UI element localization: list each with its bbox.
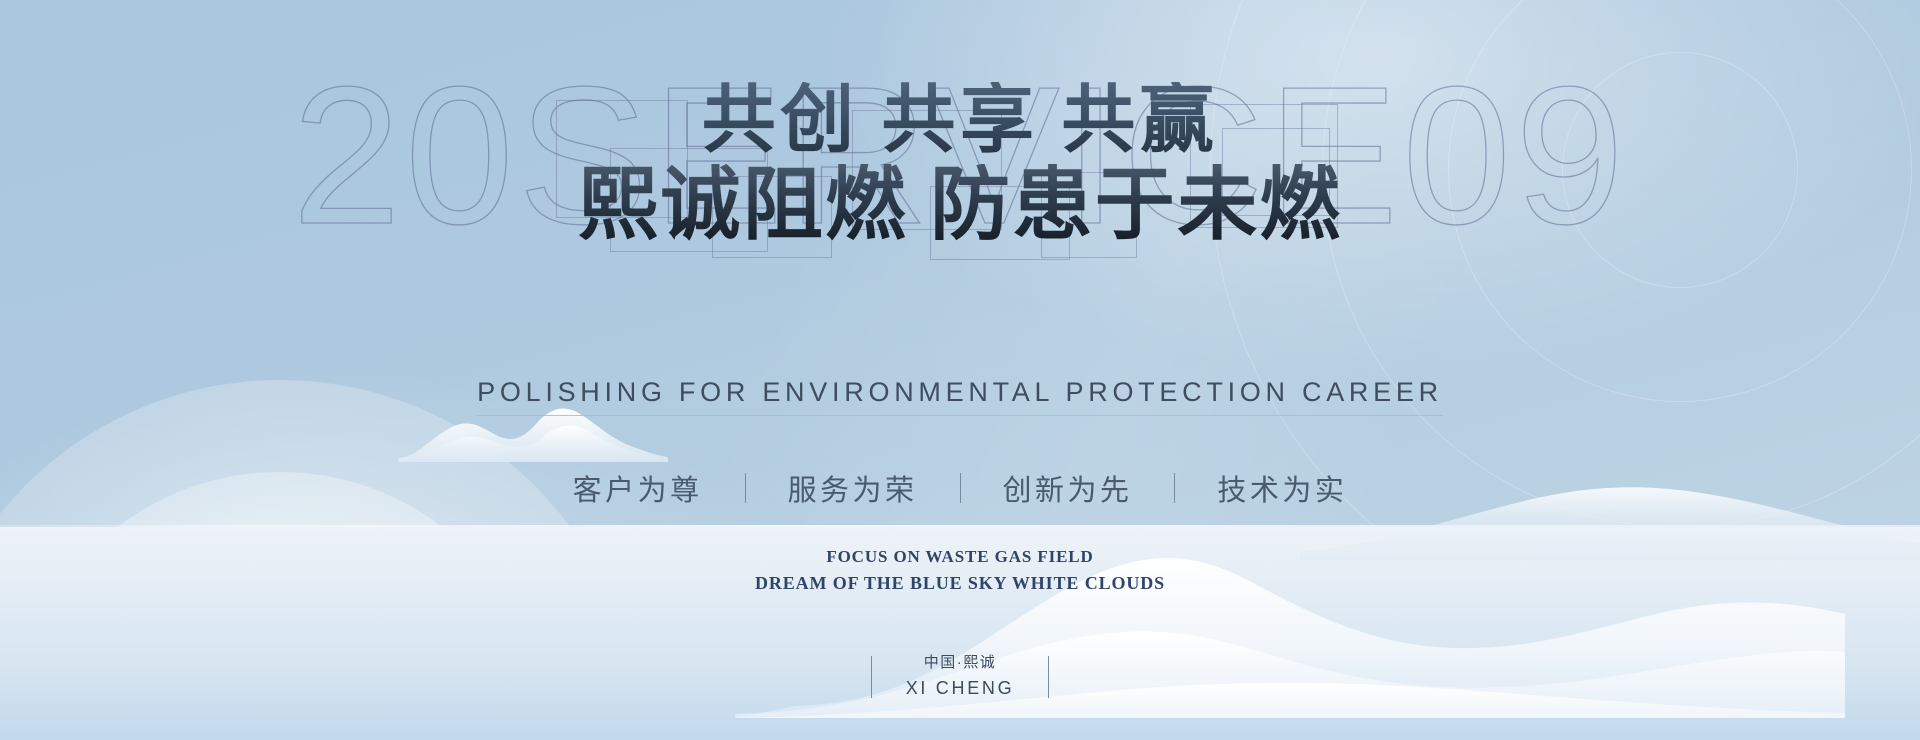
tagline-english-text: POLISHING FOR ENVIRONMENTAL PROTECTION C… [477, 377, 1443, 416]
value-item-4: 技术为实 [1211, 467, 1353, 509]
subtitle-english-group: FOCUS ON WASTE GAS FIELD DREAM OF THE BL… [0, 545, 1920, 596]
value-item-3: 创新为先 [997, 467, 1139, 509]
banner-content: 共创 共享 共赢 熙诚阻燃 防患于未燃 POLISHING FOR ENVIRO… [0, 0, 1920, 740]
brand-text-block: 中国·熙诚 XI CHENG [906, 651, 1015, 702]
brand-name-cn: 中国·熙诚 [906, 651, 1015, 675]
value-item-1: 客户为尊 [567, 467, 709, 509]
brand-name-en: XI CHENG [906, 675, 1015, 702]
subtitle-english-line-1: FOCUS ON WASTE GAS FIELD [0, 545, 1920, 570]
tagline-english: POLISHING FOR ENVIRONMENTAL PROTECTION C… [0, 377, 1920, 416]
value-item-2: 服务为荣 [782, 467, 924, 509]
value-separator [1174, 473, 1175, 503]
promotional-banner: 20SERVICE09 [0, 0, 1920, 740]
value-proposition-list: 客户为尊 服务为荣 创新为先 技术为实 [0, 467, 1920, 509]
headline-line-2: 熙诚阻燃 防患于未燃 [0, 164, 1920, 249]
headline-line-1: 共创 共享 共赢 [0, 82, 1920, 160]
brand-divider-right [1048, 656, 1049, 698]
value-separator [960, 473, 961, 503]
value-separator [745, 473, 746, 503]
headline-group: 共创 共享 共赢 熙诚阻燃 防患于未燃 [0, 82, 1920, 249]
brand-divider-left [871, 656, 872, 698]
brand-lockup: 中国·熙诚 XI CHENG [0, 651, 1920, 702]
subtitle-english-line-2: DREAM OF THE BLUE SKY WHITE CLOUDS [0, 570, 1920, 596]
